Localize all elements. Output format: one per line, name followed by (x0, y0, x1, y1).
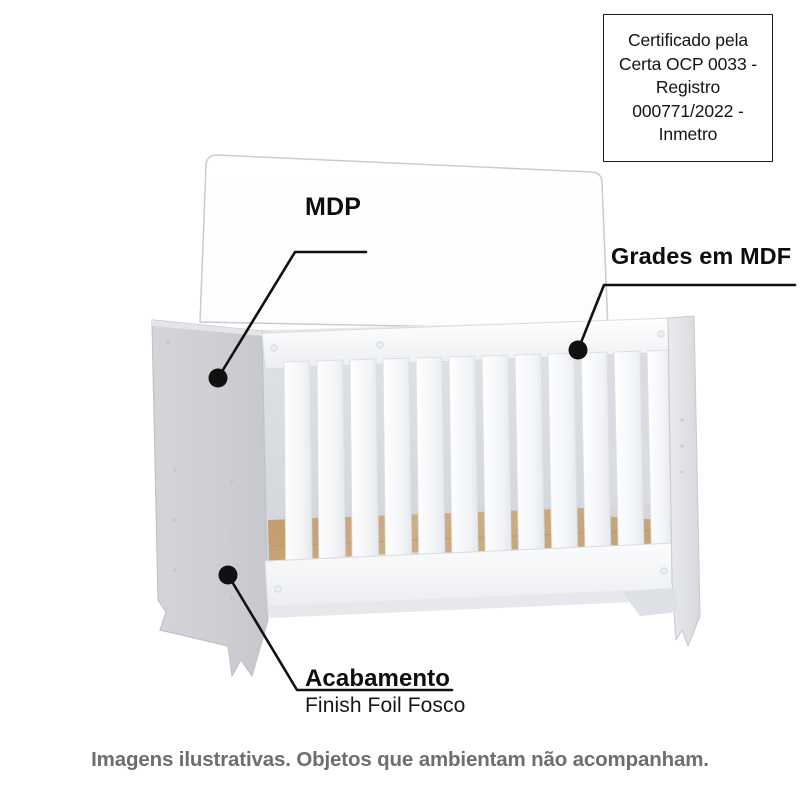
callout-acabamento-title: Acabamento (305, 665, 465, 693)
callout-mdp: MDP (305, 193, 361, 222)
right-foot-shadow (622, 588, 678, 616)
infographic-page: Certificado pela Certa OCP 0033 - Regist… (0, 0, 800, 800)
footer-disclaimer: Imagens ilustrativas. Objetos que ambien… (0, 748, 800, 772)
callout-mdp-title: MDP (305, 193, 361, 222)
certification-box: Certificado pela Certa OCP 0033 - Regist… (603, 14, 773, 162)
certification-text: Certificado pela Certa OCP 0033 - Regist… (619, 29, 757, 146)
callout-grades: Grades em MDF (611, 243, 791, 270)
callout-grades-title: Grades em MDF (611, 243, 791, 270)
front-rail-assembly (262, 318, 681, 618)
headboard-panel (200, 155, 608, 330)
left-side-panel (152, 320, 268, 676)
callout-acabamento: Acabamento Finish Foil Fosco (305, 665, 465, 718)
callout-acabamento-subtitle: Finish Foil Fosco (305, 694, 465, 718)
